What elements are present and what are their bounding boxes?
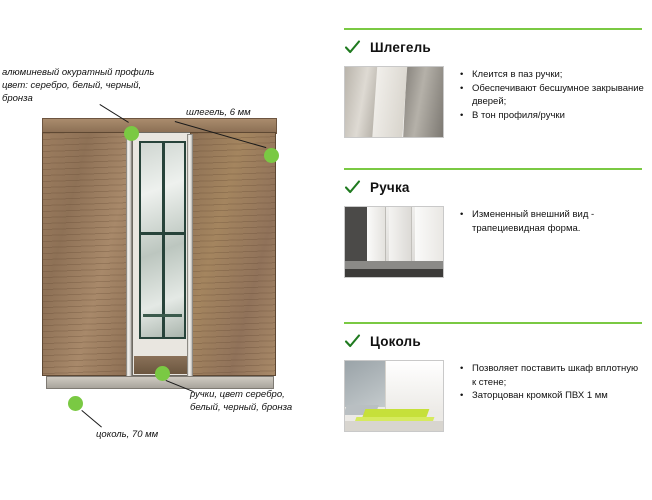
features-panel: Шлегель Клеится в паз ручки; Обеспечиваю… (330, 0, 652, 500)
handle-photo-icon (344, 206, 444, 278)
plinth-photo-icon (344, 360, 444, 432)
callout-shlegel: шлегель, 6 мм (186, 106, 306, 119)
wardrobe-mirror-door (132, 132, 192, 376)
wardrobe-handle-right (187, 134, 193, 378)
marker-dot-profile (124, 126, 139, 141)
card-bullets-handle: Измененный внешний вид - трапециевидная … (458, 206, 644, 278)
feature-card-handle: Ручка Измененный внешний вид - трапециев… (344, 174, 644, 278)
card-divider-plinth (344, 322, 642, 324)
card-title-shlegel: Шлегель (370, 40, 431, 55)
wardrobe-diagram-panel: алюминевый окуратный профиль цвет: сереб… (0, 0, 330, 500)
marker-dot-handles (155, 366, 170, 381)
callout-handles: ручки, цвет серебро, белый, черный, брон… (190, 388, 310, 414)
wardrobe-right-door (190, 132, 276, 376)
list-item: Измененный внешний вид - трапециевидная … (470, 208, 644, 235)
card-divider-handle (344, 168, 642, 170)
check-icon (344, 333, 361, 350)
list-item: Заторцован кромкой ПВХ 1 мм (470, 389, 644, 403)
wardrobe-body (42, 132, 277, 380)
mirror-lower-band (143, 314, 182, 317)
marker-dot-shlegel (264, 148, 279, 163)
shlegel-photo-icon (344, 66, 444, 138)
wardrobe-left-door (42, 132, 134, 376)
wardrobe-illustration (42, 118, 277, 390)
card-title-handle: Ручка (370, 180, 410, 195)
list-item: Клеится в паз ручки; (470, 68, 644, 82)
card-divider-shlegel (344, 28, 642, 30)
feature-card-plinth: Цоколь Позволяет поставить шкаф вплотную… (344, 328, 644, 432)
mirror-glass (139, 141, 186, 339)
leader-line-plinth (81, 410, 102, 427)
list-item: Позволяет поставить шкаф вплотную к стен… (470, 362, 644, 389)
wardrobe-handle-left (126, 134, 132, 378)
check-icon (344, 179, 361, 196)
card-header-plinth: Цоколь (344, 328, 644, 354)
callout-profile: алюминевый окуратный профиль цвет: сереб… (2, 66, 167, 105)
card-header-handle: Ручка (344, 174, 644, 200)
card-body-handle: Измененный внешний вид - трапециевидная … (344, 206, 644, 278)
marker-dot-plinth (68, 396, 83, 411)
callout-plinth: цоколь, 70 мм (96, 428, 216, 441)
feature-card-shlegel: Шлегель Клеится в паз ручки; Обеспечиваю… (344, 34, 644, 138)
card-bullets-plinth: Позволяет поставить шкаф вплотную к стен… (458, 360, 644, 432)
card-body-plinth: Позволяет поставить шкаф вплотную к стен… (344, 360, 644, 432)
card-title-plinth: Цоколь (370, 334, 421, 349)
check-icon (344, 39, 361, 56)
list-item: В тон профиля/ручки (470, 109, 644, 123)
card-header-shlegel: Шлегель (344, 34, 644, 60)
card-body-shlegel: Клеится в паз ручки; Обеспечивают бесшум… (344, 66, 644, 138)
card-bullets-shlegel: Клеится в паз ручки; Обеспечивают бесшум… (458, 66, 644, 138)
list-item: Обеспечивают бесшумное закрывание дверей… (470, 82, 644, 109)
